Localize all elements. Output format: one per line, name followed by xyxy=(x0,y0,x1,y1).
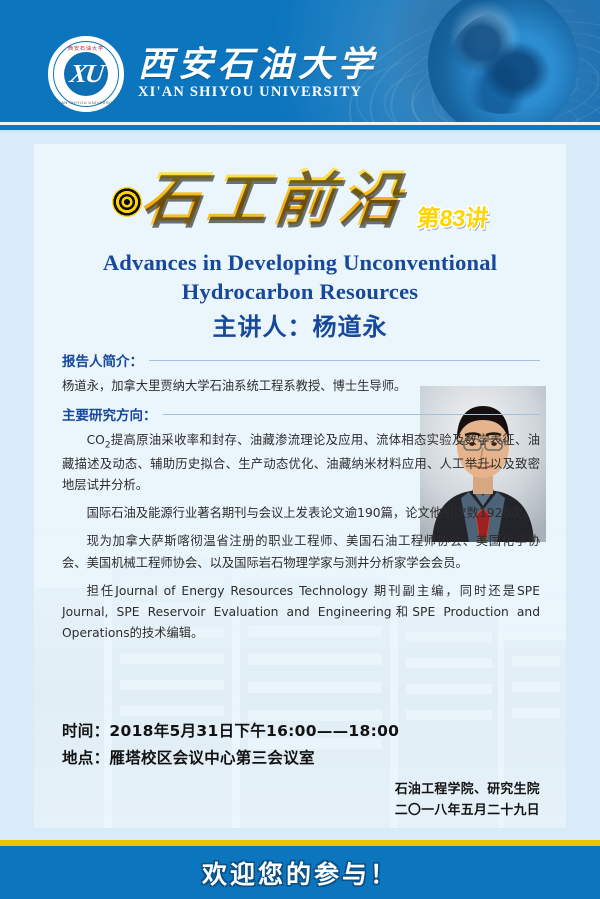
research-paragraph-text: 提高原油采收率和封存、油藏渗流理论及应用、流体相态实验及数学表征、油藏描述及动态… xyxy=(62,433,540,492)
seal-top-text: 西安石油大学 xyxy=(50,45,122,52)
research-heading-label: 主要研究方向： xyxy=(62,404,157,424)
footer-banner: 欢迎您的参与！ xyxy=(0,846,600,899)
research-heading-rule xyxy=(163,414,541,415)
publications-paragraph: 国际石油及能源行业著名期刊与会议上发表论文逾190篇，论文他引次数1920次。 xyxy=(62,503,540,524)
spiral-ornament-icon xyxy=(112,187,142,217)
research-section-heading: 主要研究方向： xyxy=(62,404,540,424)
english-title: Advances in Developing Unconventional Hy… xyxy=(0,248,600,307)
seal-monogram: XU xyxy=(68,59,104,89)
speaker-name-line: 主讲人：杨道永 xyxy=(0,307,600,342)
organizer-name: 石油工程学院、研究生院 xyxy=(395,780,540,801)
university-logo: 西安石油大学 XU XI'AN SHIYOU UNIVERSITY 西安石油大学… xyxy=(48,36,378,112)
lecture-number-badge: 第83讲 xyxy=(415,199,490,233)
university-name-en: XI'AN SHIYOU UNIVERSITY xyxy=(138,84,378,101)
welcome-message: 欢迎您的参与！ xyxy=(202,855,398,891)
bio-paragraph: 杨道永，加拿大里贾纳大学石油系统工程系教授、博士生导师。 xyxy=(62,376,540,397)
header-lower-gap xyxy=(0,130,600,132)
research-paragraph: CO2提高原油采收率和封存、油藏渗流理论及应用、流体相态实验及数学表征、油藏描述… xyxy=(62,430,540,496)
bio-heading-rule xyxy=(149,360,540,361)
header-banner: 西安石油大学 XU XI'AN SHIYOU UNIVERSITY 西安石油大学… xyxy=(0,0,600,122)
seal-bottom-text: XI'AN SHIYOU UNIVERSITY xyxy=(50,100,122,105)
membership-paragraph: 现为加拿大萨斯喀彻温省注册的职业工程师、美国石油工程师协会、美国化学协会、美国机… xyxy=(62,531,540,573)
series-title-cn: 石工前沿 xyxy=(137,150,412,237)
event-details: 时间：2018年5月31日下午16:00——18:00 地点：雁塔校区会议中心第… xyxy=(62,718,399,772)
globe-icon xyxy=(428,0,578,122)
english-title-line1: Advances in Developing Unconventional xyxy=(0,248,600,277)
lecture-series-title: 石工前沿 第83讲 xyxy=(0,150,600,240)
university-names: 西安石油大学 XI'AN SHIYOU UNIVERSITY xyxy=(138,47,378,102)
english-title-line2: Hydrocarbon Resources xyxy=(0,277,600,306)
organizer-signoff: 石油工程学院、研究生院 二〇一八年五月二十九日 xyxy=(395,780,540,821)
event-location: 地点：雁塔校区会议中心第三会议室 xyxy=(62,745,399,772)
co2-label: CO xyxy=(87,433,105,447)
editorial-paragraph: 担任Journal of Energy Resources Technology… xyxy=(62,581,540,644)
university-seal-icon: 西安石油大学 XU XI'AN SHIYOU UNIVERSITY xyxy=(48,36,124,112)
bio-heading-label: 报告人简介： xyxy=(62,350,143,370)
bio-section-heading: 报告人简介： xyxy=(62,350,540,370)
poster-root: 西安石油大学 XU XI'AN SHIYOU UNIVERSITY 西安石油大学… xyxy=(0,0,600,899)
event-time: 时间：2018年5月31日下午16:00——18:00 xyxy=(62,718,399,745)
issue-date: 二〇一八年五月二十九日 xyxy=(395,801,540,822)
university-name-cn: 西安石油大学 xyxy=(138,47,378,84)
speaker-bio-block: 报告人简介： 杨道永，加拿大里贾纳大学石油系统工程系教授、博士生导师。 主要研究… xyxy=(62,350,540,651)
